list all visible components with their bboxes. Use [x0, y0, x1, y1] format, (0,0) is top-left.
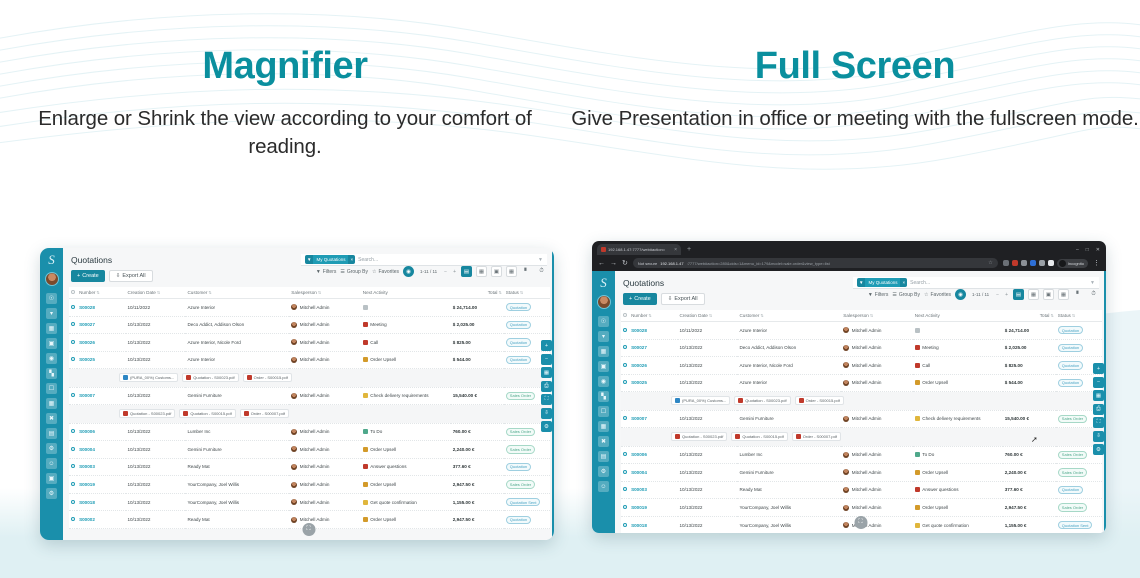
table-row[interactable]: S0001910/13/2022YourCompany, Joel Willis…: [621, 499, 1102, 517]
cell-number[interactable]: S00003: [77, 458, 125, 476]
quotations-table: Number⇅ Creation Date⇅ Customer⇅ Salespe…: [69, 287, 550, 529]
incognito-indicator[interactable]: Incognito: [1057, 259, 1088, 268]
cell-customer: Deco Addict, Addison Olson: [737, 339, 841, 357]
cell-creation-date: 10/13/2022: [678, 339, 738, 357]
sidebar-item-filter[interactable]: ▾: [598, 331, 609, 342]
sidebar-item-invoice[interactable]: ▤: [46, 428, 57, 439]
pager-prev-button[interactable]: −: [443, 269, 448, 275]
view-calendar-icon[interactable]: ▣: [1043, 289, 1054, 300]
pager-prev-button[interactable]: −: [995, 292, 1000, 298]
pdf-icon: [123, 411, 128, 416]
table-row[interactable]: S0000710/13/2022Gemini FurnitureMitchell…: [69, 387, 550, 405]
cell-number[interactable]: S00028: [629, 322, 677, 340]
url-input[interactable]: Not secure 192.168.1.47 :7777/web#action…: [633, 258, 998, 268]
view-pivot-icon[interactable]: ▦: [1058, 289, 1069, 300]
sidebar-item-chart[interactable]: ▚: [598, 391, 609, 402]
search-input[interactable]: ▼ My Quotations × Search... ▼: [301, 254, 547, 266]
fullscreen-icon[interactable]: ⛶: [1093, 417, 1104, 428]
table-row[interactable]: S0001810/13/2022YourCompany, Joel Willis…: [69, 493, 550, 511]
table-row[interactable]: S0002610/13/2022Azure Interior, Nicole F…: [69, 334, 550, 352]
settings-icon[interactable]: ⚙: [1093, 444, 1104, 455]
sort-icon[interactable]: ⇅: [1072, 313, 1075, 318]
row-checkbox[interactable]: [69, 423, 77, 441]
cell-salesperson: Mitchell Admin: [289, 493, 361, 511]
cell-next-activity[interactable]: Order Upsell: [361, 476, 451, 494]
row-checkbox[interactable]: [621, 357, 629, 375]
row-checkbox[interactable]: [621, 499, 629, 517]
cell-creation-date: 10/13/2022: [678, 410, 738, 428]
cell-next-activity[interactable]: Order Upsell: [913, 374, 1003, 392]
cell-next-activity[interactable]: Get quote confirmation: [913, 516, 1003, 533]
close-icon[interactable]: ×: [348, 257, 355, 262]
sidebar-item-crm[interactable]: ✖: [598, 436, 609, 447]
filters-button[interactable]: ▼ Filters: [868, 292, 889, 298]
cell-status: Quotation: [1056, 322, 1102, 340]
sidebar-item-contacts[interactable]: ▣: [598, 361, 609, 372]
view-list-icon[interactable]: ▤: [1013, 289, 1024, 300]
sidebar-item-crm[interactable]: ✖: [46, 413, 57, 424]
sort-icon[interactable]: ⇅: [870, 313, 873, 318]
cell-next-activity[interactable]: [913, 322, 1003, 340]
search-facet[interactable]: ▼ My Quotations ×: [857, 278, 907, 287]
attachment-chip[interactable]: Quotation - S00015.pdf: [731, 432, 787, 441]
row-checkbox[interactable]: [69, 476, 77, 494]
search-facet[interactable]: ▼ My Quotations ×: [305, 255, 355, 264]
row-checkbox[interactable]: [621, 481, 629, 499]
filters-label: Filters: [323, 269, 337, 275]
cell-next-activity[interactable]: [361, 299, 451, 317]
attachment-chip[interactable]: (PURA_00%) Customs...: [119, 373, 178, 382]
cell-total: $ 825.00: [1003, 357, 1056, 375]
table-row[interactable]: S0000310/13/2022Ready MatMitchell AdminA…: [621, 481, 1102, 499]
cell-customer: Azure Interior, Nicole Ford: [737, 357, 841, 375]
col-total: Total⇅: [1003, 310, 1056, 322]
search-area: ▼ My Quotations × Search... ▼: [853, 277, 1099, 289]
feature-subtitle: Enlarge or Shrink the view according to …: [0, 105, 570, 162]
search-facet-label: My Quotations: [865, 278, 900, 287]
cell-next-activity[interactable]: Check delivery requirements: [913, 410, 1003, 428]
attachment-chip[interactable]: Order - S00007.pdf: [792, 432, 841, 441]
search-input[interactable]: ▼ My Quotations × Search... ▼: [853, 277, 1099, 289]
close-icon[interactable]: ✕: [1096, 247, 1100, 253]
attachment-chip[interactable]: Order - S00007.pdf: [240, 409, 289, 418]
print-icon[interactable]: ⎙: [541, 381, 552, 392]
sidebar-item-inventory[interactable]: ☐: [46, 383, 57, 394]
attachment-chips: (PURA_00%) Customs...Quotation - S00023.…: [69, 369, 550, 387]
view-graph-icon[interactable]: ▘: [1073, 289, 1084, 300]
cell-creation-date: 10/13/2022: [126, 334, 186, 352]
cell-number[interactable]: S00026: [629, 357, 677, 375]
attachment-chip[interactable]: Quotation - S00023.pdf: [182, 373, 238, 382]
settings-icon[interactable]: ⚙: [541, 421, 552, 432]
fullscreen-icon[interactable]: ⛶: [541, 394, 552, 405]
cell-creation-date: 10/13/2022: [678, 464, 738, 482]
cell-number[interactable]: S00026: [77, 334, 125, 352]
search-placeholder: Search...: [910, 280, 930, 286]
view-activity-icon[interactable]: ⏱: [1088, 289, 1099, 300]
attachment-chip[interactable]: (PURA_00%) Customs...: [671, 396, 730, 405]
cell-status: Quotation: [504, 511, 550, 529]
create-label: Create: [82, 273, 99, 279]
col-status: Status⇅: [1056, 310, 1102, 322]
cell-number[interactable]: S00018: [629, 516, 677, 533]
cell-creation-date: 10/13/2022: [678, 374, 738, 392]
table-row[interactable]: S0002710/13/2022Deco Addict, Addison Ols…: [69, 316, 550, 334]
tablet-screenshot-magnifier: S ☉ ▾ ▦ ▣ ◉ ▚ ☐ ▦ ✖ ▤ ⚙ ☺ ▣ ⚙ Quotations…: [40, 248, 554, 540]
cell-next-activity[interactable]: Meeting: [913, 339, 1003, 357]
cell-salesperson: Mitchell Admin: [841, 339, 913, 357]
cell-salesperson: Mitchell Admin: [289, 316, 361, 334]
extension-icon[interactable]: [1039, 260, 1045, 266]
cell-customer: YourCompany, Joel Willis: [185, 493, 289, 511]
pager-next-button[interactable]: +: [452, 269, 457, 275]
row-checkbox[interactable]: [69, 511, 77, 529]
extension-icon[interactable]: [1021, 260, 1027, 266]
attachment-chip[interactable]: Quotation - S00015.pdf: [179, 409, 235, 418]
cell-number[interactable]: S00006: [77, 423, 125, 441]
table-row[interactable]: S0002810/11/2022Azure InteriorMitchell A…: [621, 322, 1102, 340]
back-icon[interactable]: ←: [598, 260, 605, 267]
favorites-label: Favorites: [930, 292, 951, 298]
export-label: Export All: [122, 273, 145, 279]
cell-next-activity[interactable]: Meeting: [361, 316, 451, 334]
browser-tab[interactable]: 192.168.1.47:7777/web#action= ×: [597, 244, 681, 255]
cell-number[interactable]: S00028: [77, 299, 125, 317]
select-all-checkbox[interactable]: [623, 313, 627, 317]
table-body: S0002810/11/2022Azure InteriorMitchell A…: [621, 322, 1102, 534]
select-all-checkbox[interactable]: [71, 290, 75, 294]
row-checkbox[interactable]: [621, 464, 629, 482]
cell-number[interactable]: S00019: [77, 476, 125, 494]
cell-customer: Ready Mat: [737, 481, 841, 499]
extension-icon[interactable]: [1003, 260, 1009, 266]
sort-icon[interactable]: ⇅: [318, 290, 321, 295]
attachment-chip[interactable]: Quotation - S00023.pdf: [671, 432, 727, 441]
bookmark-icon[interactable]: ☆: [988, 260, 992, 266]
col-number: Number⇅: [629, 310, 677, 322]
view-pivot-icon[interactable]: ▦: [506, 266, 517, 277]
create-label: Create: [634, 296, 651, 302]
row-checkbox[interactable]: [69, 493, 77, 511]
sidebar-item-settings[interactable]: ⚙: [46, 443, 57, 454]
export-label: Export All: [674, 296, 697, 302]
view-list-icon[interactable]: ▤: [461, 266, 472, 277]
extension-icon[interactable]: [1012, 260, 1018, 266]
cell-total: $ 825.00: [451, 334, 504, 352]
cell-next-activity[interactable]: Call: [361, 334, 451, 352]
app-logo: S: [600, 276, 607, 289]
view-kanban-icon[interactable]: ▦: [476, 266, 487, 277]
row-checkbox[interactable]: [69, 441, 77, 459]
row-checkbox[interactable]: [69, 316, 77, 334]
sidebar-item-discuss[interactable]: ◉: [46, 353, 57, 364]
window-controls: – □ ✕: [1076, 244, 1106, 255]
sidebar-item-chart[interactable]: ▚: [46, 368, 57, 379]
cell-total: 2,240.00 €: [1003, 464, 1056, 482]
col-customer: Customer⇅: [737, 310, 841, 322]
sort-icon[interactable]: ⇅: [709, 313, 712, 318]
cell-total: 15,540.00 €: [1003, 410, 1056, 428]
cell-next-activity[interactable]: Call: [913, 357, 1003, 375]
cell-number[interactable]: S00006: [629, 446, 677, 464]
attachment-chip[interactable]: Order - S00015.pdf: [243, 373, 292, 382]
magnifier-minus-icon[interactable]: −: [1093, 377, 1104, 388]
cell-number[interactable]: S00027: [629, 339, 677, 357]
cell-number[interactable]: S00004: [629, 464, 677, 482]
funnel-icon: ▼: [316, 269, 321, 275]
magnifier-minus-icon[interactable]: −: [541, 354, 552, 365]
extension-icon[interactable]: [1048, 260, 1054, 266]
sidebar-item-inventory[interactable]: ☐: [598, 406, 609, 417]
sort-icon[interactable]: ⇅: [1050, 313, 1053, 318]
cell-total: $ 2,025.00: [451, 316, 504, 334]
group-by-button[interactable]: ☰ Group By: [892, 292, 920, 298]
app-sidebar[interactable]: S ☉ ▾ ▦ ▣ ◉ ▚ ☐ ▦ ✖ ▤ ⚙ ☺: [592, 271, 615, 533]
cell-creation-date: 10/13/2022: [678, 481, 738, 499]
cell-next-activity[interactable]: Check delivery requirements: [361, 387, 451, 405]
cell-salesperson: Mitchell Admin: [841, 446, 913, 464]
export-icon[interactable]: ⇩: [1093, 431, 1104, 442]
quotations-table: Number⇅ Creation Date⇅ Customer⇅ Salespe…: [621, 310, 1102, 533]
cell-number[interactable]: S00002: [77, 511, 125, 529]
attachment-row: (PURA_00%) Customs...Quotation - S00023.…: [621, 392, 1102, 410]
export-icon[interactable]: ⇩: [541, 408, 552, 419]
avatar[interactable]: [45, 272, 59, 286]
chevron-down-icon[interactable]: ▼: [538, 257, 543, 263]
sidebar-item-users[interactable]: ☺: [598, 481, 609, 492]
table-row[interactable]: S0000610/13/2022Lumber IncMitchell Admin…: [621, 446, 1102, 464]
row-checkbox[interactable]: [69, 458, 77, 476]
table-row[interactable]: S0002610/13/2022Azure Interior, Nicole F…: [621, 357, 1102, 375]
favorites-button[interactable]: ☆ Favorites: [924, 292, 951, 298]
pdf-icon: [244, 411, 249, 416]
row-checkbox[interactable]: [621, 339, 629, 357]
sidebar-item-contacts[interactable]: ▣: [46, 338, 57, 349]
cell-status: Sales Order: [1056, 499, 1102, 517]
cell-total: $ 544.00: [451, 351, 504, 369]
quotations-table-wrap[interactable]: Number⇅ Creation Date⇅ Customer⇅ Salespe…: [63, 287, 554, 540]
expand-fab-button[interactable]: ⛶: [302, 523, 315, 536]
row-checkbox[interactable]: [621, 374, 629, 392]
cell-next-activity[interactable]: Get quote confirmation: [361, 493, 451, 511]
feature-title: Magnifier: [0, 45, 570, 89]
table-header-row: Number⇅ Creation Date⇅ Customer⇅ Salespe…: [621, 310, 1102, 322]
browser-urlbar: ← → ↻ Not secure 192.168.1.47 :7777/web#…: [592, 255, 1106, 271]
cell-total: $ 544.00: [1003, 374, 1056, 392]
browser-chrome: 192.168.1.47:7777/web#action= × + – □ ✕ …: [592, 241, 1106, 271]
attachment-chip[interactable]: Quotation - S00023.pdf: [119, 409, 175, 418]
cell-customer: Gemini Furniture: [185, 387, 289, 405]
create-button[interactable]: + Create: [623, 293, 657, 305]
cell-total: 2,947.50 €: [451, 476, 504, 494]
group-by-button[interactable]: ☰ Group By: [340, 269, 368, 275]
quotations-table-wrap[interactable]: Number⇅ Creation Date⇅ Customer⇅ Salespe…: [615, 310, 1106, 533]
table-row[interactable]: S0000410/13/2022Gemini FurnitureMitchell…: [69, 441, 550, 459]
sort-icon[interactable]: ⇅: [520, 290, 523, 295]
table-row[interactable]: S0002510/13/2022Azure InteriorMitchell A…: [69, 351, 550, 369]
sidebar-item-home[interactable]: ☉: [46, 293, 57, 304]
sidebar-item-filter[interactable]: ▾: [46, 308, 57, 319]
expand-fab-button[interactable]: ⛶: [854, 516, 867, 529]
filters-label: Filters: [875, 292, 889, 298]
sidebar-item-apps[interactable]: ▣: [46, 473, 57, 484]
sidebar-item-invoice[interactable]: ▤: [598, 451, 609, 462]
export-all-button[interactable]: ⇩ Export All: [661, 293, 705, 305]
cell-status: Quotation Sent: [504, 493, 550, 511]
cell-customer: Gemini Furniture: [737, 410, 841, 428]
cell-next-activity[interactable]: Order Upsell: [913, 464, 1003, 482]
row-checkbox[interactable]: [621, 516, 629, 533]
sidebar-item-home[interactable]: ☉: [598, 316, 609, 327]
grid-toggle-icon[interactable]: ▦: [1093, 390, 1104, 401]
attachment-chip[interactable]: Order - S00015.pdf: [795, 396, 844, 405]
plus-icon: +: [629, 296, 632, 302]
cell-number[interactable]: S00003: [629, 481, 677, 499]
cell-customer: Lumber Inc: [185, 423, 289, 441]
table-row[interactable]: S0001910/13/2022YourCompany, Joel Willis…: [69, 476, 550, 494]
sort-icon[interactable]: ⇅: [498, 290, 501, 295]
table-row[interactable]: S0000610/13/2022Lumber IncMitchell Admin…: [69, 423, 550, 441]
maximize-icon[interactable]: □: [1086, 247, 1089, 253]
cell-number[interactable]: S00027: [77, 316, 125, 334]
pdf-icon: [675, 434, 680, 439]
cell-next-activity[interactable]: Answer questions: [361, 458, 451, 476]
reload-icon[interactable]: ↻: [622, 259, 628, 267]
view-graph-icon[interactable]: ▘: [521, 266, 532, 277]
cell-number[interactable]: S00019: [629, 499, 677, 517]
sort-icon[interactable]: ⇅: [760, 313, 763, 318]
close-icon[interactable]: ×: [674, 247, 677, 253]
export-all-button[interactable]: ⇩ Export All: [109, 270, 153, 282]
magnifier-plus-icon[interactable]: +: [541, 340, 552, 351]
sort-icon[interactable]: ⇅: [648, 313, 651, 318]
cell-status: Quotation: [504, 299, 550, 317]
sidebar-item-users[interactable]: ☺: [46, 458, 57, 469]
row-checkbox[interactable]: [69, 299, 77, 317]
cell-number[interactable]: S00025: [629, 374, 677, 392]
cell-number[interactable]: S00007: [77, 387, 125, 405]
cell-customer: Azure Interior: [185, 351, 289, 369]
row-checkbox[interactable]: [621, 322, 629, 340]
cell-creation-date: 10/13/2022: [678, 446, 738, 464]
search-area: ▼ My Quotations × Search... ▼: [301, 254, 547, 266]
close-icon[interactable]: ×: [900, 280, 907, 285]
cell-total: 1,155.00 €: [1003, 516, 1056, 533]
cell-next-activity[interactable]: Order Upsell: [361, 441, 451, 459]
cell-total: 15,540.00 €: [451, 387, 504, 405]
floating-toolbar[interactable]: + − ▦ ⎙ ⛶ ⇩ ⚙: [1093, 363, 1104, 455]
pager-next-button[interactable]: +: [1004, 292, 1009, 298]
sidebar-item-grid[interactable]: ▦: [46, 398, 57, 409]
view-kanban-icon[interactable]: ▦: [1028, 289, 1039, 300]
extension-icon[interactable]: [1030, 260, 1036, 266]
row-checkbox[interactable]: [621, 446, 629, 464]
favorites-label: Favorites: [378, 269, 399, 275]
sidebar-item-settings[interactable]: ⚙: [598, 466, 609, 477]
row-checkbox[interactable]: [69, 351, 77, 369]
magnifier-plus-icon[interactable]: +: [1093, 363, 1104, 374]
cell-number[interactable]: S00018: [77, 493, 125, 511]
view-activity-icon[interactable]: ⏱: [536, 266, 547, 277]
feature-fullscreen: Full Screen Give Presentation in office …: [570, 0, 1140, 161]
col-customer: Customer⇅: [185, 287, 289, 299]
app-main-browser: Quotations ▼ My Quotations × Search... ▼: [615, 271, 1106, 533]
browser-menu-icon[interactable]: ⋮: [1091, 259, 1100, 267]
attachment-row: Quotation - S00023.pdfQuotation - S00015…: [69, 405, 550, 423]
table-row[interactable]: S0002510/13/2022Azure InteriorMitchell A…: [621, 374, 1102, 392]
sidebar-item-gear[interactable]: ⚙: [46, 488, 57, 499]
cell-salesperson: Mitchell Admin: [289, 511, 361, 529]
view-calendar-icon[interactable]: ▣: [491, 266, 502, 277]
print-icon[interactable]: ⎙: [1093, 404, 1104, 415]
floating-toolbar[interactable]: + − ▦ ⎙ ⛶ ⇩ ⚙: [541, 340, 552, 432]
sort-icon[interactable]: ⇅: [157, 290, 160, 295]
cell-next-activity[interactable]: To Do: [913, 446, 1003, 464]
minimize-icon[interactable]: –: [1076, 247, 1079, 253]
magnifier-icon[interactable]: ◉: [403, 266, 414, 277]
grid-toggle-icon[interactable]: ▦: [541, 367, 552, 378]
cell-total: 1,155.00 €: [451, 493, 504, 511]
view-tools: ▼ Filters ☰ Group By ☆ Favorites ◉ 1-11 …: [161, 266, 554, 281]
image-icon: [123, 375, 128, 380]
cell-number[interactable]: S00007: [629, 410, 677, 428]
table-row[interactable]: S0000310/13/2022Ready MatMitchell AdminA…: [69, 458, 550, 476]
action-buttons: + Create ⇩ Export All: [63, 266, 161, 287]
cell-next-activity[interactable]: Order Upsell: [361, 351, 451, 369]
cell-number[interactable]: S00025: [77, 351, 125, 369]
table-row[interactable]: S0000410/13/2022Gemini FurnitureMitchell…: [621, 464, 1102, 482]
feature-magnifier: Magnifier Enlarge or Shrink the view acc…: [0, 0, 570, 161]
cell-total: $ 2,025.00: [1003, 339, 1056, 357]
cell-next-activity[interactable]: To Do: [361, 423, 451, 441]
app-main-tablet: Quotations ▼ My Quotations × Search... ▼…: [63, 248, 554, 540]
filters-button[interactable]: ▼ Filters: [316, 269, 337, 275]
cell-number[interactable]: S00004: [77, 441, 125, 459]
row-checkbox[interactable]: [621, 410, 629, 428]
attachment-chip[interactable]: Quotation - S00023.pdf: [734, 396, 790, 405]
create-button[interactable]: + Create: [71, 270, 105, 282]
favorites-button[interactable]: ☆ Favorites: [372, 269, 399, 275]
chevron-down-icon[interactable]: ▼: [1090, 280, 1095, 286]
table-row[interactable]: S0000710/13/2022Gemini FurnitureMitchell…: [621, 410, 1102, 428]
browser-screenshot-fullscreen: 192.168.1.47:7777/web#action= × + – □ ✕ …: [592, 241, 1106, 533]
new-tab-button[interactable]: +: [684, 244, 694, 255]
app-sidebar[interactable]: S ☉ ▾ ▦ ▣ ◉ ▚ ☐ ▦ ✖ ▤ ⚙ ☺ ▣ ⚙: [40, 248, 63, 540]
sort-icon[interactable]: ⇅: [96, 290, 99, 295]
magnifier-icon[interactable]: ◉: [955, 289, 966, 300]
mouse-cursor-icon: ➚: [1031, 435, 1038, 444]
avatar[interactable]: [597, 295, 611, 309]
sidebar-item-discuss[interactable]: ◉: [598, 376, 609, 387]
feature-title: Full Screen: [570, 45, 1140, 89]
table-row[interactable]: S0002710/13/2022Deco Addict, Addison Ols…: [621, 339, 1102, 357]
cell-total: 760.00 €: [451, 423, 504, 441]
cell-next-activity[interactable]: Answer questions: [913, 481, 1003, 499]
sidebar-item-calendar[interactable]: ▦: [46, 323, 57, 334]
download-icon: ⇩: [116, 273, 121, 279]
sort-icon[interactable]: ⇅: [208, 290, 211, 295]
forward-icon[interactable]: →: [610, 260, 617, 267]
browser-tabbar: 192.168.1.47:7777/web#action= × + – □ ✕: [592, 241, 1106, 255]
sidebar-item-grid[interactable]: ▦: [598, 421, 609, 432]
sidebar-item-calendar[interactable]: ▦: [598, 346, 609, 357]
cell-next-activity[interactable]: Order Upsell: [913, 499, 1003, 517]
cell-total: 760.00 €: [1003, 446, 1056, 464]
cell-next-activity[interactable]: Order Upsell: [361, 511, 451, 529]
table-row[interactable]: S0002810/11/2022Azure InteriorMitchell A…: [69, 299, 550, 317]
row-checkbox[interactable]: [69, 387, 77, 405]
row-checkbox[interactable]: [69, 334, 77, 352]
